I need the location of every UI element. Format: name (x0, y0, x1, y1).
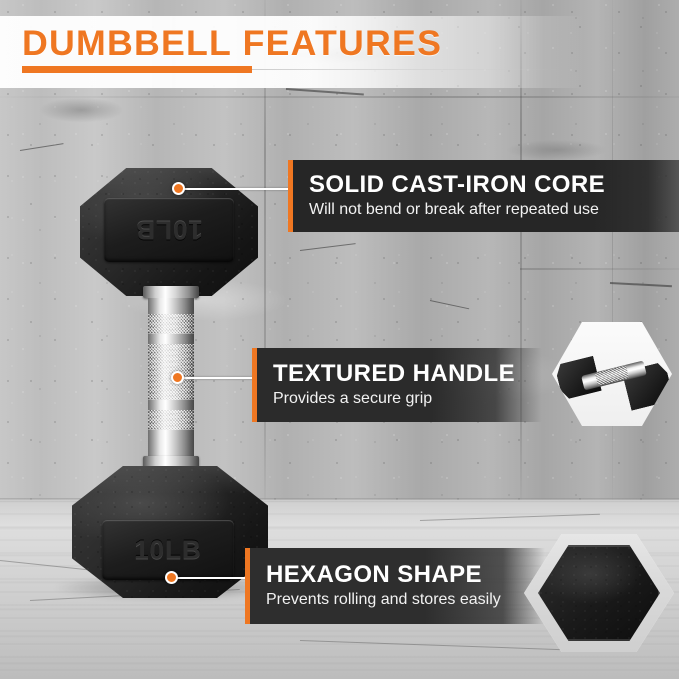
callout-subtitle: Prevents rolling and stores easily (266, 591, 531, 609)
leader-line-handle (182, 377, 254, 379)
callout-title: TEXTURED HANDLE (273, 361, 528, 387)
dumbbell-handle (148, 286, 194, 476)
dumbbell-product-image: 10LB 10LB (62, 168, 270, 598)
handle-collar (143, 286, 199, 298)
infographic-canvas: DUMBBELL FEATURES 10LB 10LB (0, 0, 679, 679)
handle-shaft-segment (148, 334, 194, 344)
callout-title: HEXAGON SHAPE (266, 562, 531, 588)
inset-hexagon-edge-highlight (538, 545, 660, 641)
callout-hexagon-shape[interactable]: HEXAGON SHAPE Prevents rolling and store… (245, 548, 545, 624)
weight-label-bottom: 10LB (102, 535, 234, 566)
leader-line-core (178, 188, 290, 190)
leader-line-hexagon (176, 577, 248, 579)
weight-label-top: 10LB (104, 215, 234, 246)
callout-solid-cast-iron-core[interactable]: SOLID CAST-IRON CORE Will not bend or br… (288, 160, 679, 232)
weight-plate-top: 10LB (104, 198, 234, 262)
handle-shaft-segment (148, 430, 194, 456)
wall-seam (0, 96, 679, 98)
callout-title: SOLID CAST-IRON CORE (309, 172, 665, 198)
head-facet (80, 168, 258, 194)
callout-subtitle: Provides a secure grip (273, 390, 528, 408)
handle-knurl-band (148, 314, 194, 334)
handle-knurl-band (148, 344, 194, 400)
head-facet (72, 466, 268, 494)
callout-subtitle: Will not bend or break after repeated us… (309, 201, 665, 219)
handle-shaft-segment (148, 400, 194, 410)
title-underline (22, 66, 252, 73)
handle-knurl-band (148, 410, 194, 430)
wall-seam (520, 268, 679, 270)
title-underline-tail (252, 69, 562, 70)
marker-dot-hexagon (165, 571, 178, 584)
marker-dot-handle (171, 371, 184, 384)
marker-dot-core (172, 182, 185, 195)
handle-shaft-segment (148, 298, 194, 314)
page-title: DUMBBELL FEATURES (22, 24, 442, 64)
callout-textured-handle[interactable]: TEXTURED HANDLE Provides a secure grip (252, 348, 542, 422)
